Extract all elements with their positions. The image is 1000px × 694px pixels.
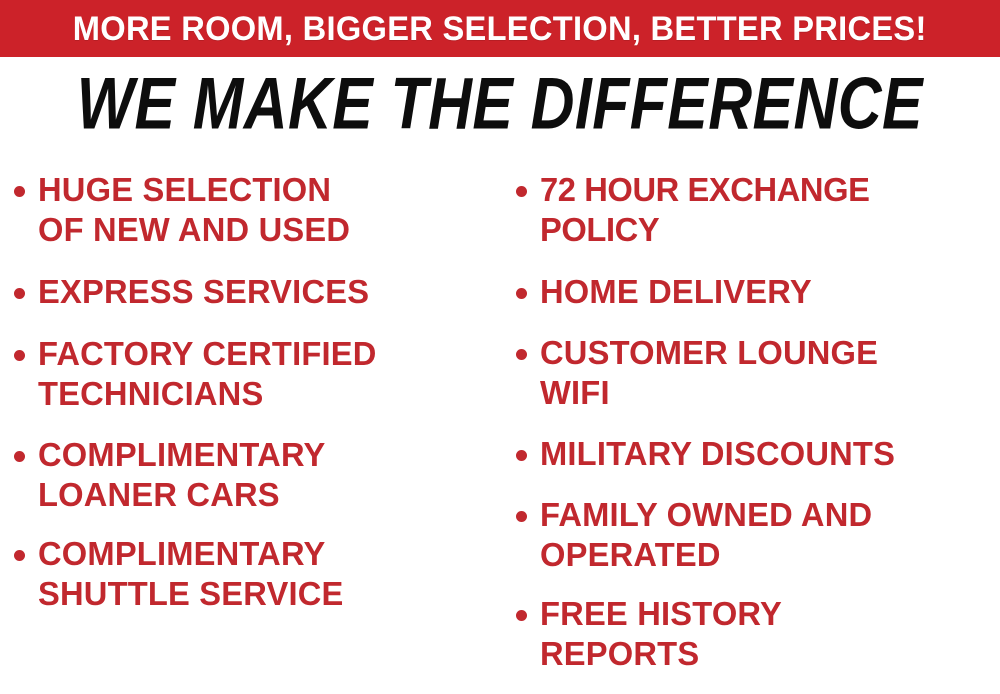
benefit-item-label: COMPLIMENTARY SHUTTLE SERVICE bbox=[38, 534, 344, 614]
top-promo-banner-text: MORE ROOM, BIGGER SELECTION, BETTER PRIC… bbox=[73, 12, 927, 46]
benefit-item: HUGE SELECTION OF NEW AND USED bbox=[14, 170, 353, 250]
page-title: WE MAKE THE DIFFERENCE bbox=[77, 66, 923, 139]
benefit-item: FAMILY OWNED AND OPERATED bbox=[516, 495, 876, 575]
benefit-item-label: FREE HISTORY REPORTS bbox=[540, 594, 782, 674]
bullet-dot-icon bbox=[516, 186, 527, 197]
benefit-item: COMPLIMENTARY SHUTTLE SERVICE bbox=[14, 534, 347, 614]
bullet-dot-icon bbox=[516, 610, 527, 621]
benefit-item: COMPLIMENTARY LOANER CARS bbox=[14, 435, 328, 515]
benefit-item: FREE HISTORY REPORTS bbox=[516, 594, 784, 674]
bullet-dot-icon bbox=[516, 288, 527, 299]
benefit-item-label: EXPRESS SERVICES bbox=[38, 272, 369, 312]
headline-container: WE MAKE THE DIFFERENCE bbox=[0, 62, 1000, 144]
top-promo-banner: MORE ROOM, BIGGER SELECTION, BETTER PRIC… bbox=[0, 0, 1000, 57]
bullet-dot-icon bbox=[14, 550, 25, 561]
benefit-item: FACTORY CERTIFIED TECHNICIANS bbox=[14, 334, 380, 414]
bullet-dot-icon bbox=[516, 349, 527, 360]
benefits-column-right: 72 HOUR EXCHANGE POLICY HOME DELIVERY CU… bbox=[516, 162, 1000, 694]
benefit-item-label: FAMILY OWNED AND OPERATED bbox=[540, 495, 872, 575]
bullet-dot-icon bbox=[14, 350, 25, 361]
bullet-dot-icon bbox=[516, 450, 527, 461]
bullet-dot-icon bbox=[516, 511, 527, 522]
benefit-item-label: MILITARY DISCOUNTS bbox=[540, 434, 895, 474]
bullet-dot-icon bbox=[14, 288, 25, 299]
bullet-dot-icon bbox=[14, 451, 25, 462]
benefit-item-label: CUSTOMER LOUNGE WIFI bbox=[540, 333, 878, 413]
benefit-item: HOME DELIVERY bbox=[516, 272, 815, 312]
benefit-item-label: FACTORY CERTIFIED TECHNICIANS bbox=[38, 334, 377, 414]
benefit-item-label: 72 HOUR EXCHANGE POLICY bbox=[540, 170, 870, 250]
benefit-item: EXPRESS SERVICES bbox=[14, 272, 373, 312]
benefit-item: MILITARY DISCOUNTS bbox=[516, 434, 899, 474]
benefit-item-label: HUGE SELECTION OF NEW AND USED bbox=[38, 170, 350, 250]
benefit-item-label: HOME DELIVERY bbox=[540, 272, 812, 312]
benefits-columns: HUGE SELECTION OF NEW AND USED EXPRESS S… bbox=[0, 162, 1000, 694]
bullet-dot-icon bbox=[14, 186, 25, 197]
benefit-item: CUSTOMER LOUNGE WIFI bbox=[516, 333, 882, 413]
benefit-item-label: COMPLIMENTARY LOANER CARS bbox=[38, 435, 326, 515]
benefits-column-left: HUGE SELECTION OF NEW AND USED EXPRESS S… bbox=[14, 162, 504, 694]
advertisement-banner: MORE ROOM, BIGGER SELECTION, BETTER PRIC… bbox=[0, 0, 1000, 694]
benefit-item: 72 HOUR EXCHANGE POLICY bbox=[516, 170, 873, 250]
